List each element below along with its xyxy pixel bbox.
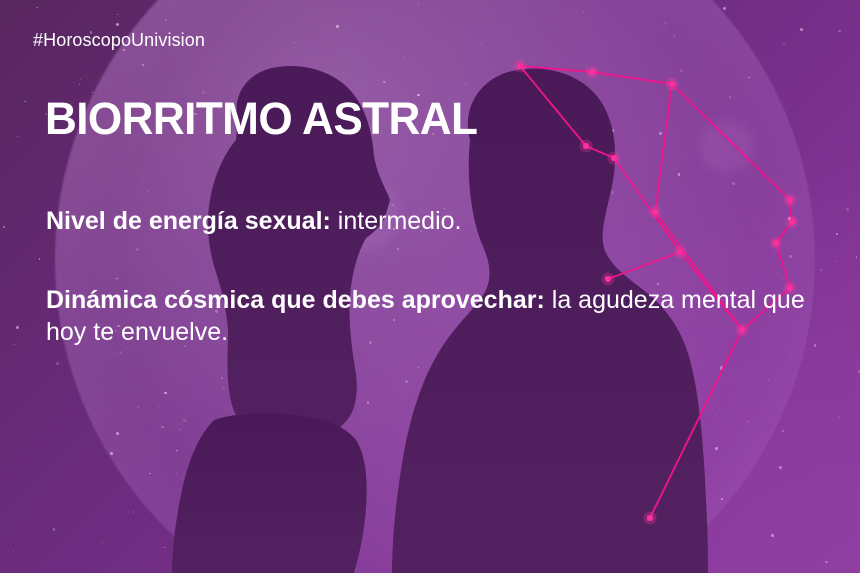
biorhythm-line-energy: Nivel de energía sexual: intermedio. [46, 205, 806, 237]
biorhythm-line-dynamic: Dinámica cósmica que debes aprovechar: l… [46, 284, 806, 348]
page-title: BIORRITMO ASTRAL [45, 96, 477, 141]
biorhythm-line-energy-label: Nivel de energía sexual: [46, 207, 331, 235]
hashtag-label: #HoroscopoUnivision [33, 30, 205, 51]
horoscope-card: #HoroscopoUnivision BIORRITMO ASTRAL Niv… [0, 0, 860, 573]
biorhythm-line-dynamic-label: Dinámica cósmica que debes aprovechar: [46, 286, 545, 314]
biorhythm-line-energy-value: intermedio. [331, 207, 462, 235]
text-layer: #HoroscopoUnivision BIORRITMO ASTRAL Niv… [0, 0, 860, 573]
